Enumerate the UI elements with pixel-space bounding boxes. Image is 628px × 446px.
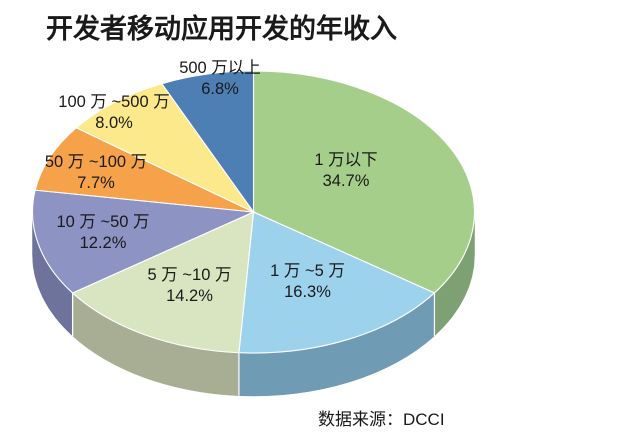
slice-label-percent: 8.0% [33,113,195,134]
slice-label-percent: 14.2% [122,286,257,307]
slice-label-500wan-yishang: 500 万以上 6.8% [146,58,294,100]
slice-label-name: 10 万 ~50 万 [32,212,174,233]
slice-label-percent: 16.3% [245,282,370,303]
pie-chart-figure: 开发者移动应用开发的年收入 1 万以下 34.7% 1 万 ~5 万 16.3%… [0,0,628,446]
slice-label-10wan-50wan: 10 万 ~50 万 12.2% [32,212,174,254]
slice-label-percent: 7.7% [20,173,172,194]
slice-label-1wan-yixia: 1 万以下 34.7% [281,150,411,192]
slice-label-name: 1 万以下 [281,150,411,171]
slice-label-name: 1 万 ~5 万 [245,261,370,282]
data-source-note: 数据来源：DCCI [318,405,445,430]
slice-label-name: 500 万以上 [146,58,294,79]
slice-label-50wan-100wan: 50 万 ~100 万 7.7% [20,152,172,194]
slice-label-percent: 34.7% [281,171,411,192]
slice-label-percent: 12.2% [32,233,174,254]
slice-label-1wan-5wan: 1 万 ~5 万 16.3% [245,261,370,303]
slice-label-name: 5 万 ~10 万 [122,265,257,286]
slice-label-5wan-10wan: 5 万 ~10 万 14.2% [122,265,257,307]
slice-label-percent: 6.8% [146,79,294,100]
slice-label-name: 50 万 ~100 万 [20,152,172,173]
